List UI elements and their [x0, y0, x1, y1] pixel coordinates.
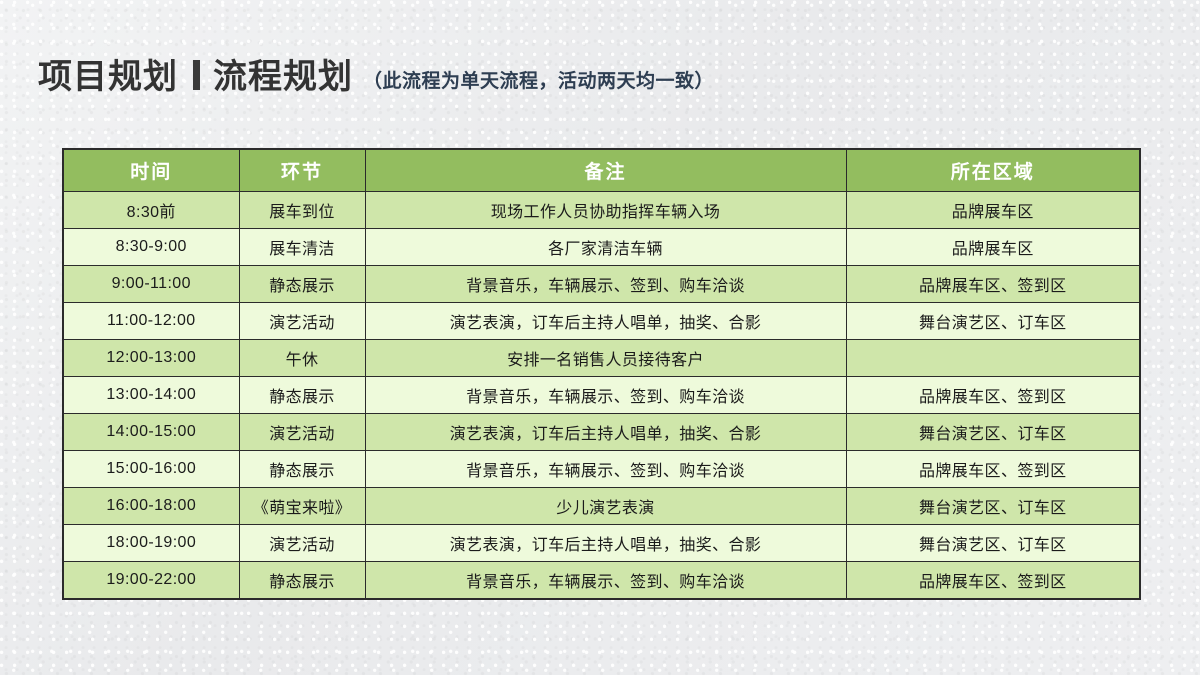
cell-stage: 静态展示: [239, 266, 365, 303]
table-row: 16:00-18:00《萌宝来啦》少儿演艺表演舞台演艺区、订车区: [63, 488, 1140, 525]
column-header-time: 时间: [63, 149, 239, 192]
cell-time: 8:30前: [63, 192, 239, 229]
cell-stage: 《萌宝来啦》: [239, 488, 365, 525]
cell-area: 舞台演艺区、订车区: [846, 525, 1140, 562]
cell-note: 背景音乐，车辆展示、签到、购车洽谈: [365, 451, 846, 488]
slide-canvas: 项目规划 流程规划 （此流程为单天流程，活动两天均一致） 时间 环节 备注 所在…: [0, 0, 1200, 675]
cell-stage: 演艺活动: [239, 303, 365, 340]
cell-time: 16:00-18:00: [63, 488, 239, 525]
cell-area: 舞台演艺区、订车区: [846, 414, 1140, 451]
cell-area: [846, 340, 1140, 377]
table-row: 13:00-14:00静态展示背景音乐，车辆展示、签到、购车洽谈品牌展车区、签到…: [63, 377, 1140, 414]
table-row: 12:00-13:00午休安排一名销售人员接待客户: [63, 340, 1140, 377]
schedule-table: 时间 环节 备注 所在区域 8:30前展车到位现场工作人员协助指挥车辆入场品牌展…: [62, 148, 1141, 600]
cell-stage: 演艺活动: [239, 525, 365, 562]
cell-note: 背景音乐，车辆展示、签到、购车洽谈: [365, 562, 846, 600]
cell-area: 舞台演艺区、订车区: [846, 303, 1140, 340]
column-header-area: 所在区域: [846, 149, 1140, 192]
table-row: 19:00-22:00静态展示背景音乐，车辆展示、签到、购车洽谈品牌展车区、签到…: [63, 562, 1140, 600]
cell-time: 9:00-11:00: [63, 266, 239, 303]
cell-area: 品牌展车区、签到区: [846, 451, 1140, 488]
cell-time: 15:00-16:00: [63, 451, 239, 488]
cell-stage: 静态展示: [239, 377, 365, 414]
column-header-stage: 环节: [239, 149, 365, 192]
table-header: 时间 环节 备注 所在区域: [63, 149, 1140, 192]
cell-time: 12:00-13:00: [63, 340, 239, 377]
table-row: 8:30前展车到位现场工作人员协助指挥车辆入场品牌展车区: [63, 192, 1140, 229]
page-title-main: 项目规划: [38, 60, 178, 94]
column-header-note: 备注: [365, 149, 846, 192]
cell-note: 演艺表演，订车后主持人唱单，抽奖、合影: [365, 525, 846, 562]
cell-area: 品牌展车区、签到区: [846, 562, 1140, 600]
cell-note: 少儿演艺表演: [365, 488, 846, 525]
cell-time: 13:00-14:00: [63, 377, 239, 414]
cell-area: 品牌展车区: [846, 229, 1140, 266]
cell-stage: 演艺活动: [239, 414, 365, 451]
cell-stage: 静态展示: [239, 562, 365, 600]
table-row: 8:30-9:00展车清洁各厂家清洁车辆品牌展车区: [63, 229, 1140, 266]
cell-time: 8:30-9:00: [63, 229, 239, 266]
table-row: 15:00-16:00静态展示背景音乐，车辆展示、签到、购车洽谈品牌展车区、签到…: [63, 451, 1140, 488]
cell-note: 安排一名销售人员接待客户: [365, 340, 846, 377]
cell-stage: 展车到位: [239, 192, 365, 229]
table-row: 18:00-19:00演艺活动演艺表演，订车后主持人唱单，抽奖、合影舞台演艺区、…: [63, 525, 1140, 562]
page-subtitle: （此流程为单天流程，活动两天均一致）: [363, 66, 714, 93]
cell-note: 背景音乐，车辆展示、签到、购车洽谈: [365, 266, 846, 303]
cell-note: 各厂家清洁车辆: [365, 229, 846, 266]
cell-area: 品牌展车区、签到区: [846, 377, 1140, 414]
table-body: 8:30前展车到位现场工作人员协助指挥车辆入场品牌展车区8:30-9:00展车清…: [63, 192, 1140, 600]
cell-note: 演艺表演，订车后主持人唱单，抽奖、合影: [365, 303, 846, 340]
cell-note: 现场工作人员协助指挥车辆入场: [365, 192, 846, 229]
cell-area: 品牌展车区、签到区: [846, 266, 1140, 303]
cell-time: 18:00-19:00: [63, 525, 239, 562]
cell-note: 演艺表演，订车后主持人唱单，抽奖、合影: [365, 414, 846, 451]
cell-stage: 午休: [239, 340, 365, 377]
table-row: 11:00-12:00演艺活动演艺表演，订车后主持人唱单，抽奖、合影舞台演艺区、…: [63, 303, 1140, 340]
cell-time: 14:00-15:00: [63, 414, 239, 451]
cell-note: 背景音乐，车辆展示、签到、购车洽谈: [365, 377, 846, 414]
table-header-row: 时间 环节 备注 所在区域: [63, 149, 1140, 192]
cell-stage: 静态展示: [239, 451, 365, 488]
cell-stage: 展车清洁: [239, 229, 365, 266]
page-title: 项目规划 流程规划 （此流程为单天流程，活动两天均一致）: [38, 58, 714, 94]
cell-time: 19:00-22:00: [63, 562, 239, 600]
title-divider-bar: [193, 60, 200, 90]
table-row: 9:00-11:00静态展示背景音乐，车辆展示、签到、购车洽谈品牌展车区、签到区: [63, 266, 1140, 303]
cell-area: 舞台演艺区、订车区: [846, 488, 1140, 525]
cell-time: 11:00-12:00: [63, 303, 239, 340]
page-title-secondary: 流程规划: [213, 60, 353, 94]
table-row: 14:00-15:00演艺活动演艺表演，订车后主持人唱单，抽奖、合影舞台演艺区、…: [63, 414, 1140, 451]
cell-area: 品牌展车区: [846, 192, 1140, 229]
